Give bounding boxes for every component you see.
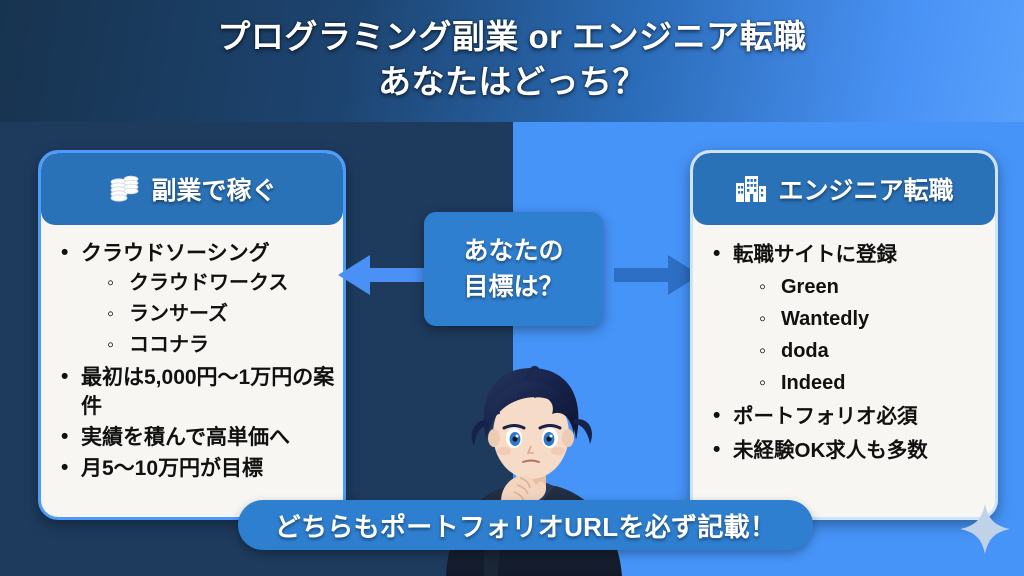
list-item: ランサーズ <box>103 299 335 330</box>
card-header-side-income: 副業で稼ぐ <box>41 153 343 225</box>
card-body-side-income: クラウドソーシング クラウドワークス ランサーズ ココナラ 最初は5,000円〜… <box>41 225 343 483</box>
list-item: 転職サイトに登録 Green Wantedly doda Indeed <box>707 239 987 399</box>
sublist-job-sites: Green Wantedly doda Indeed <box>755 271 987 399</box>
card-engineer-career[interactable]: エンジニア転職 転職サイトに登録 Green Wantedly doda Ind… <box>690 150 998 520</box>
arrow-left-icon <box>336 251 424 304</box>
list-item: 月5〜10万円が目標 <box>55 454 335 483</box>
list-item-label: 未経験OK求人も多数 <box>733 439 928 462</box>
slide-canvas: プログラミング副業 or エンジニア転職 あなたはどっち？ <box>0 0 1024 576</box>
list-item-label: クラウドソーシング <box>81 242 270 265</box>
bottom-banner-label: どちらもポートフォリオURLを必ず記載！ <box>275 507 776 544</box>
list-item: ポートフォリオ必須 <box>707 401 987 433</box>
page-title: プログラミング副業 or エンジニア転職 あなたはどっち？ <box>0 14 1024 104</box>
list-item: 最初は5,000円〜1万円の案件 <box>55 363 335 421</box>
card-header-engineer-career: エンジニア転職 <box>693 153 995 225</box>
arrow-right-icon <box>614 251 702 304</box>
bottom-banner[interactable]: どちらもポートフォリオURLを必ず記載！ <box>238 500 813 550</box>
list-item-label: 最初は5,000円〜1万円の案件 <box>81 366 334 418</box>
card-body-engineer-career: 転職サイトに登録 Green Wantedly doda Indeed ポートフ… <box>693 225 995 467</box>
sublist-crowdsourcing: クラウドワークス ランサーズ ココナラ <box>103 268 335 361</box>
list-item-label: ポートフォリオ必須 <box>733 405 918 428</box>
center-question-label: あなたの 目標は？ <box>463 233 563 305</box>
center-question-box[interactable]: あなたの 目標は？ <box>424 212 603 326</box>
office-building-icon <box>734 173 768 205</box>
coins-icon <box>107 173 141 205</box>
list-item: 実績を積んで高単価へ <box>55 423 335 452</box>
list-item: 未経験OK求人も多数 <box>707 435 987 467</box>
list-item: Wantedly <box>755 303 987 335</box>
list-item-label: 実績を積んで高単価へ <box>81 426 290 449</box>
sparkle-icon <box>958 502 1012 561</box>
list-item: クラウドワークス <box>103 268 335 299</box>
list-item: ココナラ <box>103 330 335 361</box>
list-engineer-career: 転職サイトに登録 Green Wantedly doda Indeed ポートフ… <box>707 239 987 467</box>
card-title-text: エンジニア転職 <box>778 171 953 207</box>
card-title-text: 副業で稼ぐ <box>151 171 276 207</box>
list-item: クラウドソーシング クラウドワークス ランサーズ ココナラ <box>55 239 335 361</box>
list-item: doda <box>755 335 987 367</box>
list-item-label: 月5〜10万円が目標 <box>81 457 263 480</box>
card-side-income[interactable]: 副業で稼ぐ クラウドソーシング クラウドワークス ランサーズ ココナラ 最初は5… <box>38 150 346 520</box>
list-item: Green <box>755 271 987 303</box>
list-item: Indeed <box>755 367 987 399</box>
list-item-label: 転職サイトに登録 <box>733 243 897 266</box>
list-side-income: クラウドソーシング クラウドワークス ランサーズ ココナラ 最初は5,000円〜… <box>55 239 335 483</box>
